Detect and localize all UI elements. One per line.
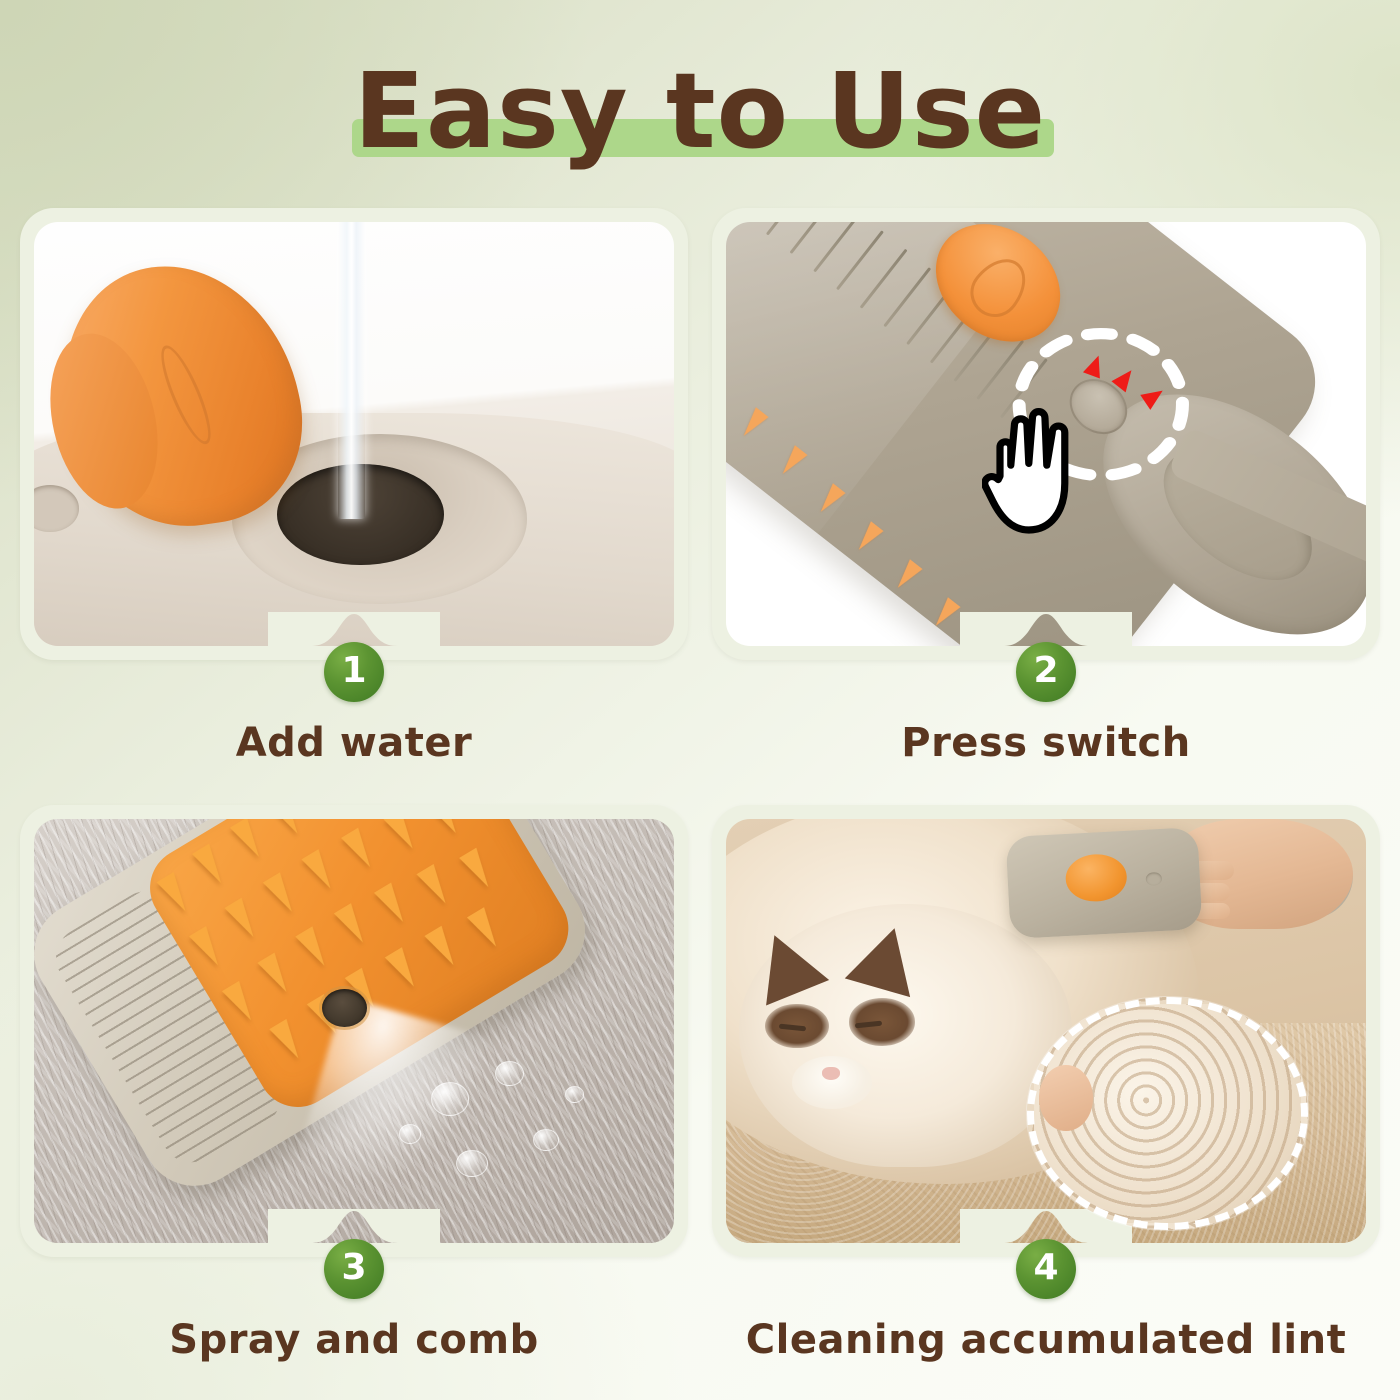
pointer-hand-cursor-icon: [982, 404, 1097, 541]
cat-ear-right: [845, 919, 927, 997]
cat-muzzle: [792, 1056, 872, 1109]
steam-nozzle: [322, 989, 367, 1027]
bubble: [399, 1124, 421, 1144]
step-4-caption: Cleaning accumulated lint: [712, 1317, 1380, 1363]
step-1-photo: [34, 222, 674, 646]
bubble: [533, 1129, 559, 1151]
cat-face: [739, 904, 1072, 1167]
step-card-1: 1 Add water: [20, 208, 688, 787]
step-4-badge: 4: [1016, 1239, 1076, 1299]
step-2-badge: 2: [1016, 642, 1076, 702]
step-3-caption: Spray and comb: [20, 1317, 688, 1363]
grooming-brush: [1005, 827, 1202, 939]
step-3-badge: 3: [324, 1239, 384, 1299]
red-press-arrows: [1078, 349, 1206, 442]
cap-slot: [152, 342, 219, 449]
brush-orange-button: [1064, 853, 1128, 903]
step-3-photo: [34, 819, 674, 1243]
step-4-photo: [726, 819, 1366, 1243]
step-4-frame: [712, 805, 1380, 1257]
title-section: Easy to Use: [0, 52, 1400, 177]
step-2-frame: [712, 208, 1380, 660]
step-card-3: 3 Spray and comb: [20, 805, 688, 1384]
step-card-4: 4 Cleaning accumulated lint: [712, 805, 1380, 1384]
water-stream: [338, 222, 365, 519]
infographic-page: Easy to Use: [0, 0, 1400, 1400]
cat-nose: [822, 1067, 840, 1080]
step-3-frame: [20, 805, 688, 1257]
lint-closeup-inset: [1027, 997, 1309, 1230]
bubble: [495, 1061, 524, 1086]
page-title: Easy to Use: [340, 58, 1060, 170]
step-4-number: 4: [1033, 1250, 1058, 1286]
step-3-number: 3: [341, 1250, 366, 1286]
steps-grid: 1 Add water: [20, 208, 1380, 1384]
step-1-badge: 1: [324, 642, 384, 702]
thumb-in-inset: [1039, 1065, 1093, 1131]
step-1-caption: Add water: [20, 720, 688, 766]
step-1-frame: [20, 208, 688, 660]
bubble: [431, 1082, 469, 1116]
step-card-2: 2 Press switch: [712, 208, 1380, 787]
brush-switch-dot: [1145, 871, 1161, 885]
step-2-number: 2: [1033, 653, 1058, 689]
step-1-number: 1: [341, 653, 366, 689]
step-2-caption: Press switch: [712, 720, 1380, 766]
title-inner: Easy to Use: [340, 58, 1060, 170]
step-2-photo: [726, 222, 1366, 646]
